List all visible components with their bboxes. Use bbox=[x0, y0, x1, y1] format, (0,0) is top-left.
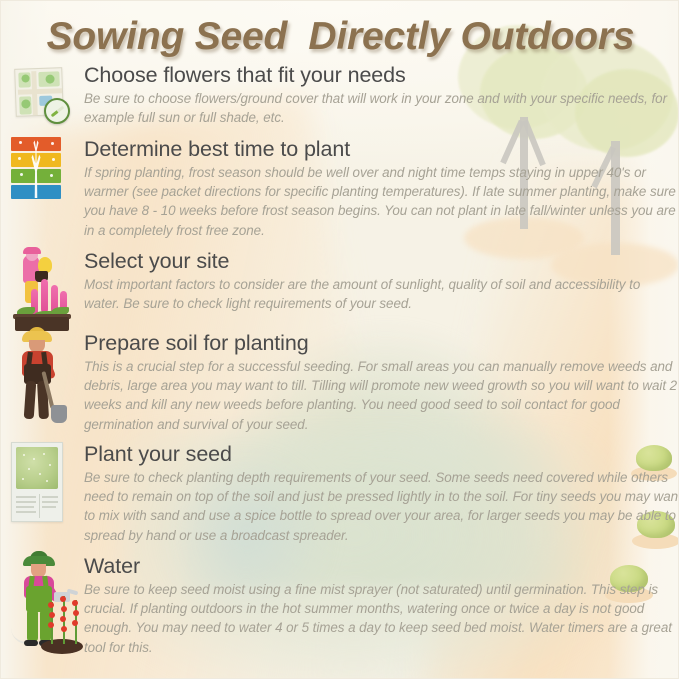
seed-packet-icon bbox=[11, 442, 63, 522]
step-icon-wrapper bbox=[11, 331, 69, 429]
step-icon-wrapper bbox=[11, 249, 73, 331]
step-text: Prepare soil for planting This is a cruc… bbox=[84, 331, 679, 434]
step-text: Plant your seed Be sure to check plantin… bbox=[84, 442, 679, 545]
flower-planter-icon bbox=[11, 249, 73, 331]
step-heading: Determine best time to plant bbox=[84, 137, 679, 162]
step-body: Be sure to keep seed moist using a fine … bbox=[84, 580, 679, 657]
watering-gardener-icon bbox=[11, 554, 83, 654]
step-heading: Plant your seed bbox=[84, 442, 679, 467]
step-body: Most important factors to consider are t… bbox=[84, 275, 659, 313]
step-text: Choose flowers that fit your needs Be su… bbox=[84, 63, 676, 127]
step-body: If spring planting, frost season should … bbox=[84, 163, 679, 240]
step-icon-wrapper bbox=[11, 442, 63, 522]
step-icon-wrapper bbox=[11, 554, 83, 654]
step-body: Be sure to check planting depth requirem… bbox=[84, 468, 679, 545]
step-heading: Prepare soil for planting bbox=[84, 331, 679, 356]
gardener-shovel-icon bbox=[11, 331, 69, 429]
step-heading: Water bbox=[84, 554, 679, 579]
compass-icon bbox=[44, 98, 70, 124]
step-heading: Select your site bbox=[84, 249, 659, 274]
step-body: Be sure to choose flowers/ground cover t… bbox=[84, 89, 676, 127]
step-icon-wrapper bbox=[11, 63, 69, 123]
step-icon-wrapper bbox=[11, 137, 61, 201]
step-body: This is a crucial step for a successful … bbox=[84, 357, 679, 434]
step-text: Water Be sure to keep seed moist using a… bbox=[84, 554, 679, 657]
steps-list: Choose flowers that fit your needs Be su… bbox=[1, 1, 679, 679]
infographic-poster: Sowing Seed Directly Outdoors bbox=[0, 0, 679, 679]
four-seasons-icon bbox=[11, 137, 61, 201]
garden-plan-compass-icon bbox=[11, 63, 69, 123]
step-text: Select your site Most important factors … bbox=[84, 249, 659, 313]
step-heading: Choose flowers that fit your needs bbox=[84, 63, 676, 88]
step-text: Determine best time to plant If spring p… bbox=[84, 137, 679, 240]
